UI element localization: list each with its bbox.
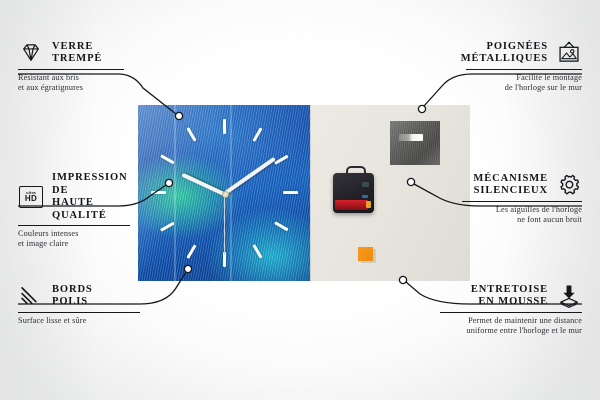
callout-subtitle-line1: Permet de maintenir une distance (440, 316, 582, 326)
callout-title: BORDS POLIS (52, 284, 93, 309)
callout-subtitle-line2: ne font aucun bruit (462, 215, 582, 225)
callout-subtitle-line2: et image claire (18, 239, 130, 249)
callout-poignees[interactable]: POIGNÉES MÉTALLIQUES Facilite le montage… (466, 40, 582, 93)
callout-rule (18, 225, 130, 226)
callout-rule (440, 312, 582, 313)
connector-dot-poignees (418, 105, 425, 112)
callout-header: ultra HD IMPRESSION DE HAUTE QUALITÉ (18, 172, 130, 222)
ultra-hd-big-label: HD (25, 195, 37, 203)
callout-header: MÉCANISME SILENCIEUX (462, 172, 582, 198)
callout-rule (18, 312, 140, 313)
ultra-hd-icon: ultra HD (18, 184, 44, 210)
callout-subtitle-line1: Facilite le montage (466, 73, 582, 83)
callout-subtitle-line2: de l'horloge sur le mur (466, 83, 582, 93)
callout-bords-polis[interactable]: BORDS POLIS Surface lisse et sûre (18, 283, 140, 326)
callout-title: ENTRETOISE EN MOUSSE (471, 284, 548, 309)
callout-subtitle-line1: Surface lisse et sûre (18, 316, 140, 326)
ultra-hd-box: ultra HD (19, 186, 43, 208)
callout-rule (462, 201, 582, 202)
callout-subtitle-line2: uniforme entre l'horloge et le mur (440, 326, 582, 336)
gear-icon (556, 172, 582, 198)
callout-header: ENTRETOISE EN MOUSSE (440, 283, 582, 309)
infographic-canvas: VERRE TREMPÉ Résistant aux bris et aux é… (0, 0, 600, 400)
connector-dot-impression (165, 179, 172, 186)
callout-impression[interactable]: ultra HD IMPRESSION DE HAUTE QUALITÉ Cou… (18, 172, 130, 249)
callout-subtitle-line1: Résistant aux bris (18, 73, 124, 83)
callout-header: BORDS POLIS (18, 283, 140, 309)
callout-subtitle-line1: Les aiguilles de l'horloge (462, 205, 582, 215)
callout-title: MÉCANISME SILENCIEUX (473, 173, 548, 198)
callout-header: VERRE TREMPÉ (18, 40, 124, 66)
callout-subtitle-line1: Couleurs intenses (18, 229, 130, 239)
callout-rule (466, 69, 582, 70)
connector-dot-mecanisme (407, 178, 414, 185)
connector-dot-verre (175, 112, 182, 119)
picture-frame-hanger-icon (556, 40, 582, 66)
callout-header: POIGNÉES MÉTALLIQUES (466, 40, 582, 66)
polished-edges-icon (18, 283, 44, 309)
callout-verre-trempe[interactable]: VERRE TREMPÉ Résistant aux bris et aux é… (18, 40, 124, 93)
callout-title: IMPRESSION DE HAUTE QUALITÉ (52, 172, 130, 222)
diamond-icon (18, 40, 44, 66)
callout-rule (18, 69, 124, 70)
callout-mecanisme[interactable]: MÉCANISME SILENCIEUX Les aiguilles de l'… (462, 172, 582, 225)
callout-title: POIGNÉES MÉTALLIQUES (461, 41, 548, 66)
callout-entretoise[interactable]: ENTRETOISE EN MOUSSE Permet de maintenir… (440, 283, 582, 336)
connector-dot-entretoise (399, 276, 406, 283)
callout-subtitle-line2: et aux égratignures (18, 83, 124, 93)
callout-title: VERRE TREMPÉ (52, 41, 102, 66)
connector-dot-bords (184, 265, 191, 272)
foam-spacer-arrow-icon (556, 283, 582, 309)
